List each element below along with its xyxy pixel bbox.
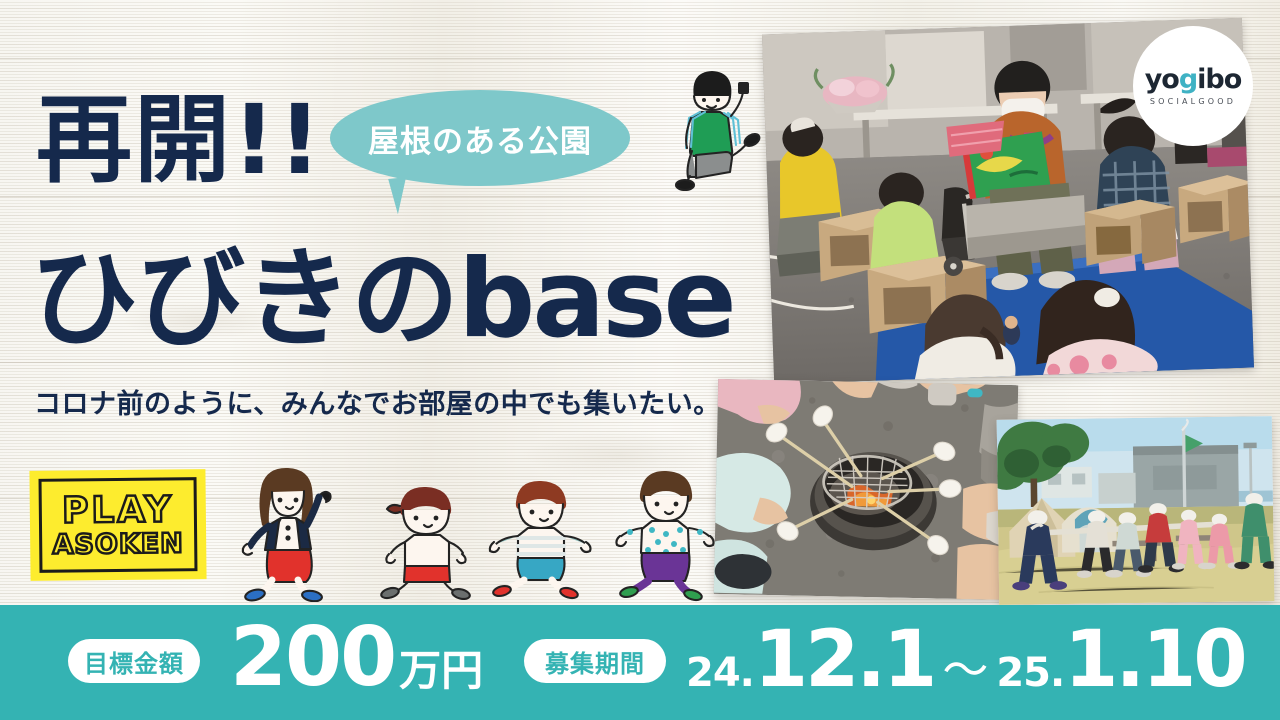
kid-boy-striped-shirt-icon [486, 472, 596, 600]
start-year: 24. [686, 650, 754, 696]
goal-amount-value: 200 万円 [230, 617, 483, 699]
campaign-period-label: 募集期間 [524, 639, 666, 683]
callout-bubble: 屋根のある公園 [330, 90, 630, 186]
end-date: 1.10 [1064, 621, 1244, 699]
brand-title: ひびきのbase [30, 246, 734, 354]
roof-park-callout: 屋根のある公園 [330, 90, 640, 215]
date-separator: 〜 [942, 634, 988, 700]
kid-jumping-boy-green-vest-icon [660, 52, 764, 192]
asoken-logo-line2: ASOKEN [52, 530, 184, 558]
photo-marshmallow-roasting [714, 379, 1018, 600]
yogibo-tagline: SOCIALGOOD [1150, 97, 1236, 106]
poster-canvas: 再開!! 屋根のある公園 ひびきのbase コロナ前のように、みんなでお部屋の中… [0, 0, 1280, 720]
kid-boy-polka-dot-shirt-icon [612, 464, 718, 602]
goal-amount-label: 目標金額 [68, 639, 200, 683]
goal-amount-unit: 万円 [399, 637, 483, 698]
callout-tail [388, 177, 410, 215]
brand-title-latin: base [458, 237, 734, 362]
yogibo-wordmark-accent: g [1179, 64, 1197, 95]
kid-girl-ponytail-red-shorts-icon [378, 478, 474, 600]
callout-label: 屋根のある公園 [368, 116, 592, 161]
goal-amount-number: 200 [230, 617, 395, 699]
brand-title-kana: ひびきの [30, 237, 458, 362]
asoken-logo-line1: PLAY [62, 492, 174, 529]
yogibo-wordmark-pre: yo [1145, 64, 1179, 95]
photo-camp-field [997, 416, 1275, 605]
page-title: 再開!! [36, 92, 324, 188]
campaign-period-value: 24. 12.1 〜 25. 1.10 [686, 621, 1245, 700]
kid-girl-red-skirt-icon [236, 462, 344, 602]
campaign-footer-bar: 目標金額 200 万円 募集期間 24. 12.1 〜 25. 1.10 [0, 605, 1280, 720]
yogibo-wordmark-post: ibo [1197, 64, 1241, 95]
start-date: 12.1 [754, 621, 934, 699]
yogibo-logo: yogibo SOCIALGOOD [1133, 26, 1253, 146]
yogibo-wordmark: yogibo [1145, 66, 1242, 93]
tagline: コロナ前のように、みんなでお部屋の中でも集いたい。 [34, 382, 721, 421]
end-year: 25. [996, 650, 1064, 696]
play-asoken-logo: PLAY ASOKEN [29, 469, 206, 581]
